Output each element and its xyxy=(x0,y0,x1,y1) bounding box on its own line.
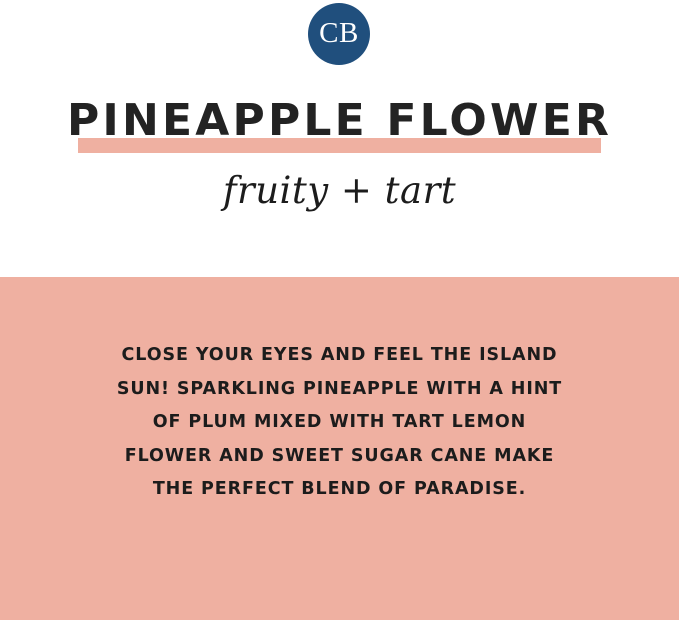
description-line: THE PERFECT BLEND OF PARADISE. xyxy=(0,473,679,507)
product-label-card: CB PINEAPPLE FLOWER fruity + tart CLOSE … xyxy=(0,0,679,620)
logo-circle-icon: CB xyxy=(308,3,370,65)
page-title: PINEAPPLE FLOWER xyxy=(0,96,679,146)
header-section: CB PINEAPPLE FLOWER fruity + tart xyxy=(0,0,679,277)
title-block: PINEAPPLE FLOWER xyxy=(0,96,679,156)
brand-logo: CB xyxy=(308,3,370,65)
description-panel: CLOSE YOUR EYES AND FEEL THE ISLAND SUN!… xyxy=(0,277,679,620)
description-line: CLOSE YOUR EYES AND FEEL THE ISLAND xyxy=(0,339,679,373)
page-subtitle: fruity + tart xyxy=(0,168,679,214)
logo-initials: CB xyxy=(319,19,359,48)
description-line: FLOWER AND SWEET SUGAR CANE MAKE xyxy=(0,440,679,474)
description-line: OF PLUM MIXED WITH TART LEMON xyxy=(0,406,679,440)
description-line: SUN! SPARKLING PINEAPPLE WITH A HINT xyxy=(0,373,679,407)
description-text: CLOSE YOUR EYES AND FEEL THE ISLAND SUN!… xyxy=(0,339,679,507)
